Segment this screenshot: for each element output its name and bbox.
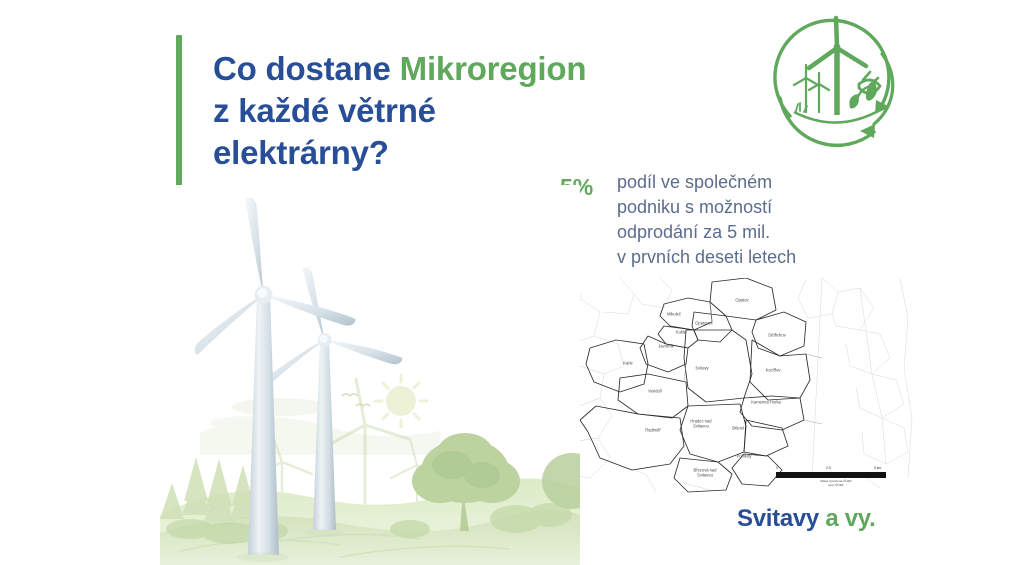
map-label: Mikuleč [667, 312, 681, 317]
municipality-map: Opatov Mikuleč Opatovec Kukle Dětřichov … [560, 278, 930, 493]
slide-root: Co dostane Mikroregion z každé větrné el… [0, 0, 1024, 565]
headline-line1-plain: Co dostane [213, 50, 400, 87]
map-label: Kukle [676, 330, 686, 335]
stat-line-3: v prvních deseti letech [617, 245, 917, 270]
wind-energy-logo-icon [762, 12, 912, 152]
stat-line-2: odprodání za 5 mil. [617, 220, 917, 245]
headline-line3: elektrárny? [213, 134, 389, 171]
brand-logotype: Svitavy a vy. [737, 505, 875, 533]
map-label: Javorník [658, 344, 673, 349]
page-title: Co dostane Mikroregion z každé větrné el… [213, 48, 683, 174]
scale-min: 0 [776, 466, 778, 470]
sun-icon [375, 375, 427, 427]
scale-bar-graphic [776, 472, 886, 478]
scale-max: 5 km [874, 466, 881, 470]
accent-bar [176, 35, 182, 209]
wind-farm-illustration [160, 185, 580, 565]
map-boundaries [560, 278, 930, 493]
stat-line-0: podíl ve společném [617, 170, 917, 195]
brand-part1: Svitavy [737, 505, 819, 532]
stat-description: podíl ve společném podniku s možností od… [617, 170, 917, 270]
map-label: Koclířov [766, 368, 781, 373]
map-label: Svitavou [693, 424, 709, 429]
map-label: Opatov [735, 298, 748, 303]
map-scale-bar: 0 2,5 5 km Mapa vytvořena ČÚZK úpm ČÚZK [776, 466, 896, 487]
map-label: Kamenná Horka [751, 400, 781, 405]
stat-line-1: podniku s možností [617, 195, 917, 220]
headline-line1-highlight: Mikroregion [400, 50, 587, 87]
brand-part2: a vy. [819, 505, 875, 532]
headline-line2: z každé větrné [213, 92, 436, 129]
map-label: Svitavou [697, 473, 713, 478]
map-label: Svitavy [695, 366, 708, 371]
map-attribution-line2: úpm ČÚZK [776, 483, 896, 487]
map-label: Dětřichov [768, 333, 785, 338]
map-label: Pohledy [737, 454, 752, 459]
scale-mid: 2,5 [826, 466, 831, 470]
map-label: Sklené [732, 426, 745, 431]
map-label: Vendolí [648, 389, 662, 394]
map-label: Opatovec [695, 321, 713, 326]
map-label: Radiměř [645, 428, 660, 433]
map-label: Karle [623, 361, 633, 366]
